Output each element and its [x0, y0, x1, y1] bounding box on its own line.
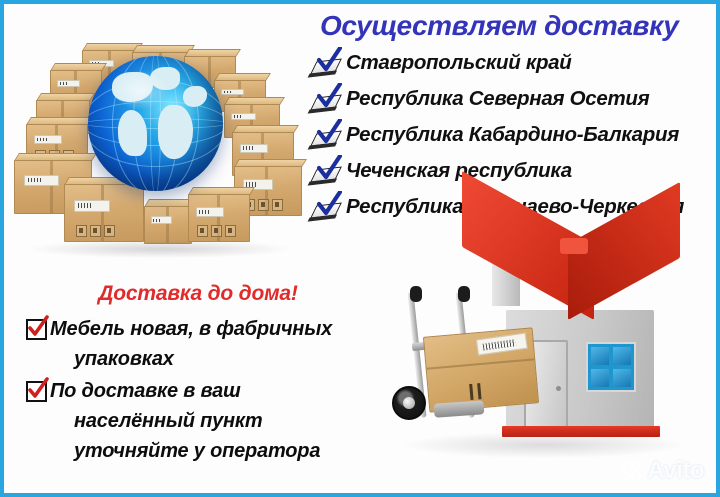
illustration-shadow — [30, 240, 290, 258]
note-text: По доставке в ваш населённый пункт уточн… — [50, 376, 320, 466]
note-text: Мебель новая, в фабричных упаковках — [50, 314, 332, 374]
hand-truck-wheel — [392, 386, 426, 420]
list-item: Республика Северная Осетия — [312, 81, 718, 117]
house-window-shape — [586, 342, 636, 392]
roof-ridge-shape — [560, 238, 588, 254]
region-label: Чеченская республика — [346, 159, 572, 183]
blue-check-tray-icon — [312, 84, 346, 114]
delivery-notes-section: Доставка до дома! Мебель новая, в фабрич… — [12, 282, 384, 468]
list-item: По доставке в ваш населённый пункт уточн… — [12, 376, 384, 466]
red-checkbox-icon — [26, 319, 47, 340]
illustration-shadow — [404, 432, 684, 458]
region-label: Республика Северная Осетия — [346, 87, 649, 111]
notes-heading: Доставка до дома! — [12, 282, 384, 306]
blue-check-tray-icon — [312, 48, 346, 78]
list-item: Чеченская республика — [312, 153, 718, 189]
note-line: упаковках — [50, 344, 332, 374]
parcel-box — [64, 184, 144, 242]
list-item: Ставропольский край — [312, 45, 718, 81]
region-label: Ставропольский край — [346, 51, 572, 75]
note-line: населённый пункт — [50, 406, 320, 436]
blue-check-tray-icon — [312, 120, 346, 150]
parcel-box — [188, 194, 250, 242]
parcel-box — [144, 206, 192, 244]
blue-check-tray-icon — [312, 156, 346, 186]
region-label: Республика Кабардино-Балкария — [346, 123, 679, 147]
note-line: уточняйте у оператора — [50, 436, 320, 466]
blue-check-tray-icon — [312, 192, 346, 222]
delivery-advert-poster: Осуществляем доставку Ставропольский кра… — [0, 0, 720, 497]
regions-section: Осуществляем доставку Ставропольский кра… — [310, 10, 718, 225]
globe-with-parcels-illustration — [8, 8, 308, 266]
red-checkbox-icon — [26, 381, 47, 402]
globe-icon — [88, 56, 223, 191]
list-item: Республика Кабардино-Балкария — [312, 117, 718, 153]
house-with-hand-truck-illustration — [386, 236, 716, 491]
page-title: Осуществляем доставку — [320, 10, 718, 42]
note-line: Мебель новая, в фабричных — [50, 318, 332, 340]
note-line: По доставке в ваш — [50, 380, 241, 402]
list-item: Мебель новая, в фабричных упаковках — [12, 314, 384, 374]
